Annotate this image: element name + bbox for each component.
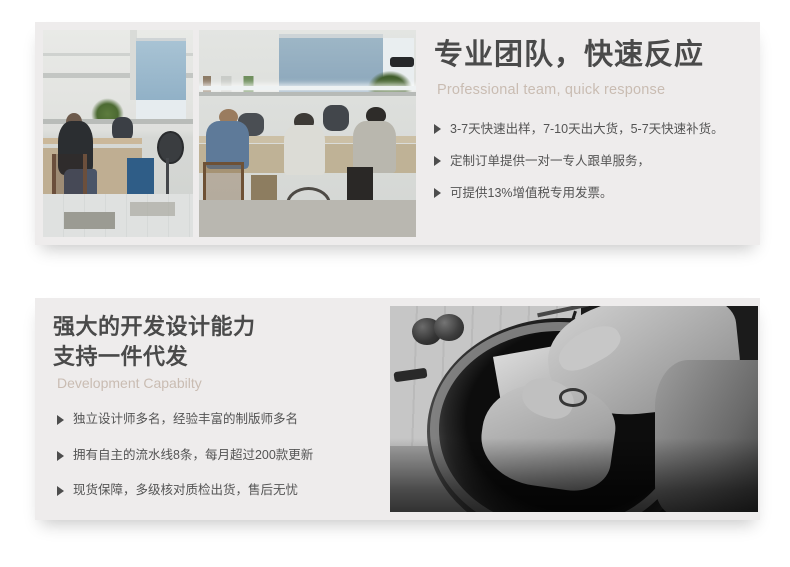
list-item: 现货保障，多级核对质检出货，售后无忧 [57, 482, 383, 500]
list-item: 拥有自主的流水线8条，每月超过200款更新 [57, 447, 383, 465]
photo-window-blind [136, 38, 186, 103]
top-heading-en: Professional team, quick response [437, 82, 754, 98]
top-bullet-list: 3-7天快速出样，7-10天出大货，5-7天快速补货。 定制订单提供一对一专人跟… [434, 120, 754, 202]
triangle-bullet-icon [434, 124, 441, 134]
bottom-heading-cn-line1: 强大的开发设计能力 [53, 312, 383, 342]
triangle-bullet-icon [57, 486, 64, 496]
top-heading-cn: 专业团队，快速反应 [434, 38, 754, 74]
photo-machine [127, 158, 154, 197]
list-item-text: 现货保障，多级核对质检出货，售后无忧 [73, 482, 298, 500]
list-item-text: 拥有自主的流水线8条，每月超过200款更新 [73, 447, 313, 465]
photo-vignette-shadow [390, 438, 758, 512]
bottom-heading-cn-line2: 支持一件代发 [53, 342, 383, 372]
craftsman-hands-photo [390, 306, 758, 512]
triangle-bullet-icon [434, 188, 441, 198]
bottom-text-block: 强大的开发设计能力 支持一件代发 Development Capabilty 独… [53, 312, 383, 500]
triangle-bullet-icon [434, 156, 441, 166]
bottom-bullet-list: 独立设计师多名，经验丰富的制版师多名 拥有自主的流水线8条，每月超过200款更新… [57, 411, 383, 500]
photo-metal-ball-2 [434, 314, 463, 341]
list-item: 定制订单提供一对一专人跟单服务， [434, 152, 754, 170]
top-text-block: 专业团队，快速反应 Professional team, quick respo… [434, 38, 754, 202]
workshop-team-photo [199, 30, 416, 237]
top-section-panel: 专业团队，快速反应 Professional team, quick respo… [35, 22, 760, 245]
photo-floor [199, 200, 416, 237]
photo-worker-2-torso [284, 125, 325, 175]
photo-shelf [199, 92, 416, 96]
triangle-bullet-icon [57, 451, 64, 461]
photo-floor-mat-back [130, 202, 175, 216]
top-photo-strip [43, 30, 416, 237]
photo-jewelry-ring [559, 388, 587, 406]
bottom-section-panel: 强大的开发设计能力 支持一件代发 Development Capabilty 独… [35, 298, 760, 520]
list-item-text: 可提供13%增值税专用发票。 [450, 184, 613, 202]
photo-floor-mat [64, 212, 115, 229]
workshop-worker-photo [43, 30, 193, 237]
photo-fan [157, 131, 184, 164]
photo-window [136, 100, 186, 121]
bottom-heading-en: Development Capabilty [57, 375, 383, 391]
list-item: 3-7天快速出样，7-10天出大货，5-7天快速补货。 [434, 120, 754, 138]
list-item-text: 3-7天快速出样，7-10天出大货，5-7天快速补货。 [450, 120, 724, 138]
photo-strip-light [199, 86, 416, 90]
list-item-text: 定制订单提供一对一专人跟单服务， [450, 152, 650, 170]
banner-page: 专业团队，快速反应 Professional team, quick respo… [0, 0, 790, 567]
list-item: 独立设计师多名，经验丰富的制版师多名 [57, 411, 383, 429]
triangle-bullet-icon [57, 415, 64, 425]
photo-worker-3-torso [353, 121, 396, 173]
photo-wall-speaker [390, 57, 414, 67]
list-item-text: 独立设计师多名，经验丰富的制版师多名 [73, 411, 298, 429]
list-item: 可提供13%增值税专用发票。 [434, 184, 754, 202]
photo-worker-background-right [323, 105, 349, 132]
